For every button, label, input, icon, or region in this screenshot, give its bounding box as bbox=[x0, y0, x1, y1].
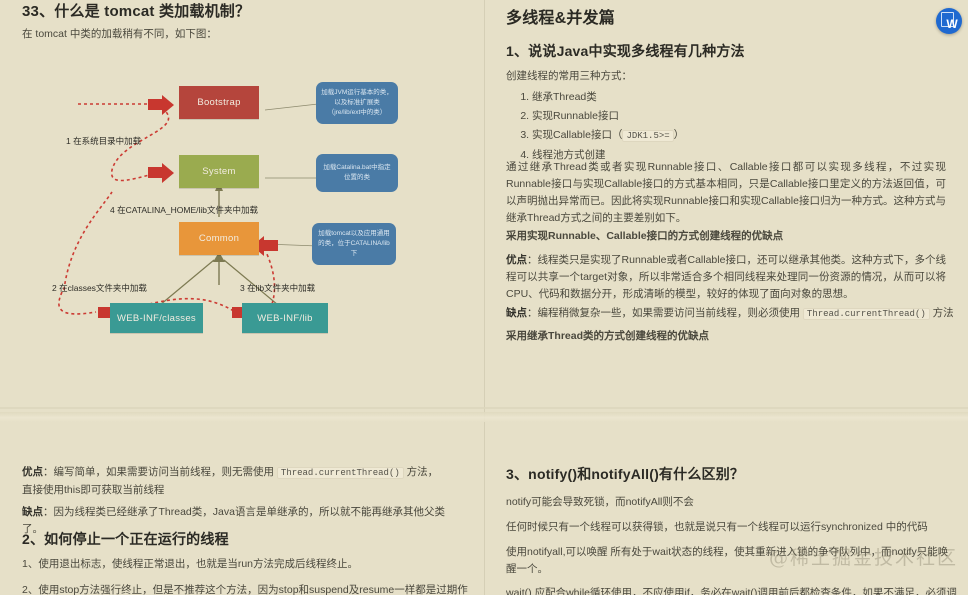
diagram-step-label-1: 1 在系统目录中加载 bbox=[66, 135, 141, 147]
notify-paragraph-1: notify可能会导致死锁，而notifyAll则不会 bbox=[506, 494, 946, 511]
method-text: 实现Runnable接口 bbox=[532, 110, 619, 122]
left-page: 33、什么是 tomcat 类加载机制？ 在 tomcat 中类的加载稍有不同，… bbox=[0, 0, 484, 595]
notify-paragraph-2: 任何时候只有一个线程可以获得锁，也就是说只有一个线程可以运行synchroniz… bbox=[506, 519, 966, 536]
diagram-step-label-2: 2 在classes文件夹中加载 bbox=[52, 282, 147, 294]
list-item: 实现Runnable接口 bbox=[532, 107, 684, 126]
diagram-node-system: System bbox=[179, 155, 259, 188]
diagram-node-common: Common bbox=[179, 222, 259, 255]
diagram-step-label-3: 3 在lib文件夹中加载 bbox=[240, 282, 315, 294]
method-suffix: ） bbox=[674, 129, 685, 141]
cons-inline-code: Thread.currentThread() bbox=[803, 308, 930, 320]
pros-text: ：线程类只是实现了Runnable或者Callable接口，还可以继承其他类。这… bbox=[506, 254, 946, 300]
page-title-tomcat: 33、什么是 tomcat 类加载机制？ bbox=[22, 0, 250, 21]
wps-word-document-icon[interactable]: W bbox=[936, 8, 962, 34]
pros-paragraph-thread: 优点：编写简单，如果需要访问当前线程，则无需使用 Thread.currentT… bbox=[22, 464, 442, 499]
diagram-node-webinf-classes: WEB-INF/classes bbox=[110, 303, 203, 333]
subheading-runnable-callable: 采用实现Runnable、Callable接口的方式创建线程的优缺点 bbox=[506, 228, 783, 245]
multithread-paragraph: 通过继承Thread类或者实现Runnable接口、Callable接口都可以实… bbox=[506, 159, 946, 227]
page-break-gap bbox=[0, 412, 968, 422]
page-break-line bbox=[0, 407, 968, 409]
cons-text-2: 方法 bbox=[930, 307, 954, 319]
stop-thread-item-2: 2、使用stop方法强行终止，但是不推荐这个方法，因为stop和suspend及… bbox=[22, 582, 472, 595]
multithread-method-list: 继承Thread类 实现Runnable接口 实现Callable接口（JDK1… bbox=[506, 88, 684, 165]
cons-label: 缺点 bbox=[22, 506, 43, 518]
pros-label: 优点 bbox=[22, 466, 43, 478]
pros-label: 优点 bbox=[506, 254, 527, 266]
method-text: 实现Callable接口（ bbox=[532, 129, 622, 141]
multithread-intro: 创建线程的常用三种方式： bbox=[506, 68, 632, 85]
list-item: 实现Callable接口（JDK1.5>=） bbox=[532, 126, 684, 146]
diagram-node-webinf-lib: WEB-INF/lib bbox=[242, 303, 328, 333]
section-heading-concurrency: 多线程&并发篇 bbox=[506, 4, 615, 28]
pros-inline-code: Thread.currentThread() bbox=[277, 467, 404, 479]
question-heading-stop-thread: 2、如何停止一个正在运行的线程 bbox=[22, 529, 229, 549]
subheading-extend-thread: 采用继承Thread类的方式创建线程的优缺点 bbox=[506, 328, 709, 345]
left-page-bottom-section: 优点：编写简单，如果需要访问当前线程，则无需使用 Thread.currentT… bbox=[0, 422, 484, 595]
runnable-pros-paragraph: 优点：线程类只是实现了Runnable或者Callable接口，还可以继承其他类… bbox=[506, 252, 946, 303]
right-page: 多线程&并发篇 1、说说Java中实现多线程有几种方法 创建线程的常用三种方式：… bbox=[484, 0, 968, 595]
question-heading-notify: 3、notify()和notifyAll()有什么区别？ bbox=[506, 464, 744, 484]
diagram-callout-bootstrap: 加载JVM运行基本的类，以及标准扩展类（jre/lib/ext中的类） bbox=[316, 82, 398, 124]
diagram-step-label-4: 4 在CATALINA_HOME/lib文件夹中加载 bbox=[110, 204, 258, 216]
method-text: 继承Thread类 bbox=[532, 91, 597, 103]
notify-paragraph-4: wait() 应配合while循环使用，不应使用if，务必在wait()调用前后… bbox=[506, 585, 966, 595]
tomcat-classloader-diagram: Bootstrap System Common WEB-INF/classes … bbox=[0, 60, 484, 350]
tomcat-intro-text: 在 tomcat 中类的加载稍有不同，如下图： bbox=[22, 26, 217, 43]
left-page-top-section: 33、什么是 tomcat 类加载机制？ 在 tomcat 中类的加载稍有不同，… bbox=[0, 0, 484, 408]
document-viewer: 33、什么是 tomcat 类加载机制？ 在 tomcat 中类的加载稍有不同，… bbox=[0, 0, 968, 595]
stop-thread-item-1: 1、使用退出标志，使线程正常退出，也就是当run方法完成后线程终止。 bbox=[22, 556, 462, 573]
right-page-top-section: 多线程&并发篇 1、说说Java中实现多线程有几种方法 创建线程的常用三种方式：… bbox=[484, 0, 968, 408]
diagram-callout-common: 加载tomcat以及应用通用的类，位于CATALINA/lib下 bbox=[312, 223, 396, 265]
jdk-version-code: JDK1.5>= bbox=[622, 130, 673, 142]
diagram-callout-system: 加载Catalina.bat中指定位置的类 bbox=[316, 154, 398, 192]
cons-text-1: ：编程稍微复杂一些，如果需要访问当前线程，则必须使用 bbox=[527, 307, 803, 319]
runnable-cons-paragraph: 缺点：编程稍微复杂一些，如果需要访问当前线程，则必须使用 Thread.curr… bbox=[506, 305, 956, 323]
right-page-bottom-section: 3、notify()和notifyAll()有什么区别？ notify可能会导致… bbox=[484, 422, 968, 595]
letter-w-glyph: W bbox=[946, 18, 957, 30]
diagram-node-bootstrap: Bootstrap bbox=[179, 86, 259, 119]
pros-text-1: ：编写简单，如果需要访问当前线程，则无需使用 bbox=[43, 466, 277, 478]
question-heading-multithread-methods: 1、说说Java中实现多线程有几种方法 bbox=[506, 41, 745, 61]
list-item: 继承Thread类 bbox=[532, 88, 684, 107]
cons-label: 缺点 bbox=[506, 307, 527, 319]
notify-paragraph-3: 使用notifyall,可以唤醒 所有处于wait状态的线程，使其重新进入锁的争… bbox=[506, 544, 956, 578]
